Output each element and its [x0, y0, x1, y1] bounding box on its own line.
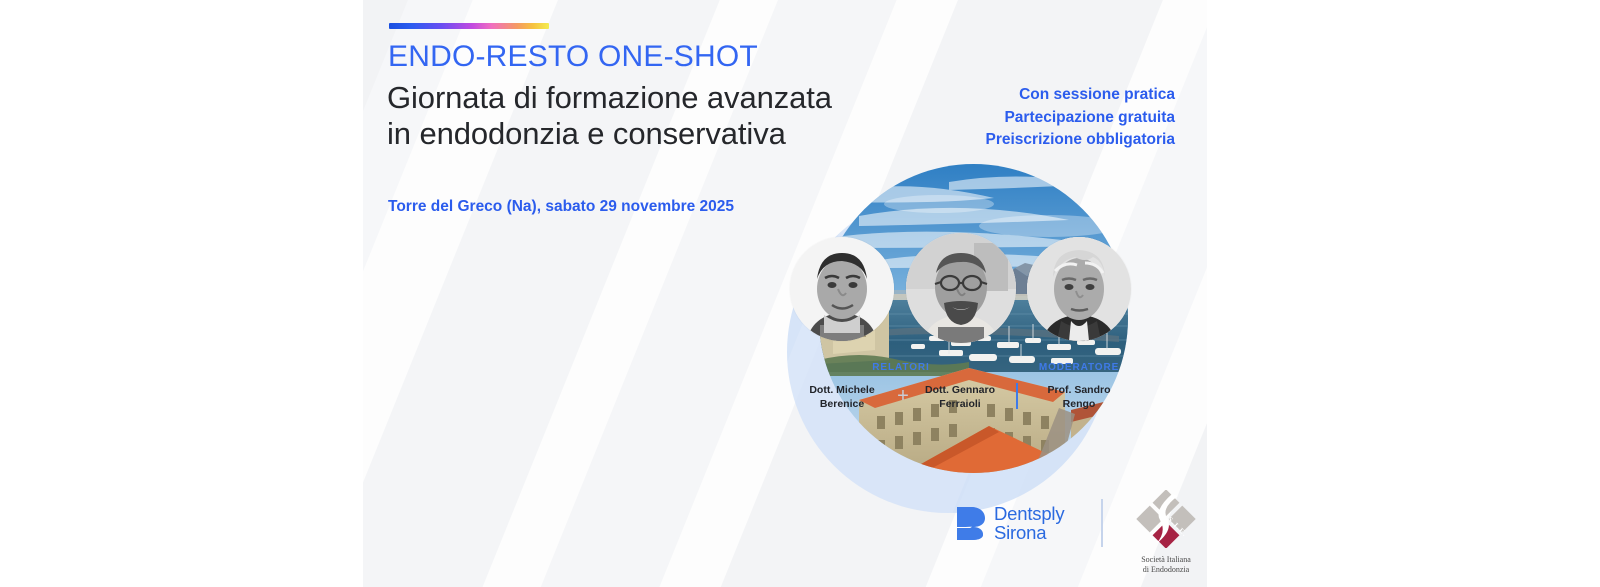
event-notes: Con sessione pratica Partecipazione grat… — [986, 84, 1176, 152]
page-title: Giornata di formazione avanzata in endod… — [387, 80, 832, 152]
logo-row: Dentsply Sirona S.I.E. — [955, 495, 1205, 575]
poster-stage: ENDO-RESTO ONE-SHOT Giornata di formazio… — [0, 0, 1600, 587]
headline-line-1: Giornata di formazione avanzata — [387, 80, 832, 115]
sie-caption: Società Italiana di Endodonzia — [1126, 555, 1206, 574]
headline-line-2: in endodonzia e conservativa — [387, 116, 832, 152]
portrait-michele-berenice — [790, 237, 894, 341]
event-note: Partecipazione gratuita — [986, 107, 1176, 130]
moderator-name: Prof. Sandro Rengo — [1009, 383, 1149, 411]
sie-diamond-icon: S.I.E. — [1134, 490, 1198, 548]
event-dateline: Torre del Greco (Na), sabato 29 novembre… — [388, 198, 734, 216]
portrait-gennaro-ferraioli — [906, 233, 1016, 343]
moderator-name-line-1: Prof. Sandro — [1009, 383, 1149, 397]
dentsply-word-line-1: Dentsply — [994, 504, 1064, 523]
event-note: Preiscrizione obbligatoria — [986, 129, 1176, 152]
speaker-card — [901, 237, 1021, 343]
role-label-relatori: RELATORI — [841, 362, 961, 373]
sie-caption-line-1: Società Italiana — [1126, 555, 1206, 565]
dentsply-sirona-wordmark: Dentsply Sirona — [994, 504, 1064, 542]
speaker-card — [782, 237, 902, 341]
sie-caption-line-2: di Endodonzia — [1126, 565, 1206, 575]
moderator-card — [1019, 237, 1139, 341]
speakers-row: RELATORI MODERATORE + Dott. Michele Bere… — [363, 237, 1207, 412]
moderator-name-line-2: Rengo — [1009, 397, 1149, 411]
sie-logo: S.I.E. Società Italiana di Endodonzia — [1126, 490, 1206, 574]
dentsply-sirona-logo: Dentsply Sirona — [955, 504, 1064, 542]
dentsply-swoosh-icon — [955, 506, 985, 540]
event-banner: ENDO-RESTO ONE-SHOT Giornata di formazio… — [363, 0, 1207, 587]
event-note: Con sessione pratica — [986, 84, 1176, 107]
portrait-sandro-rengo — [1027, 237, 1131, 341]
logo-divider — [1101, 499, 1103, 547]
role-label-moderatore: MODERATORE — [1019, 362, 1139, 373]
gradient-rule — [389, 23, 549, 29]
event-kicker: ENDO-RESTO ONE-SHOT — [388, 40, 758, 74]
dentsply-word-line-2: Sirona — [994, 523, 1064, 542]
